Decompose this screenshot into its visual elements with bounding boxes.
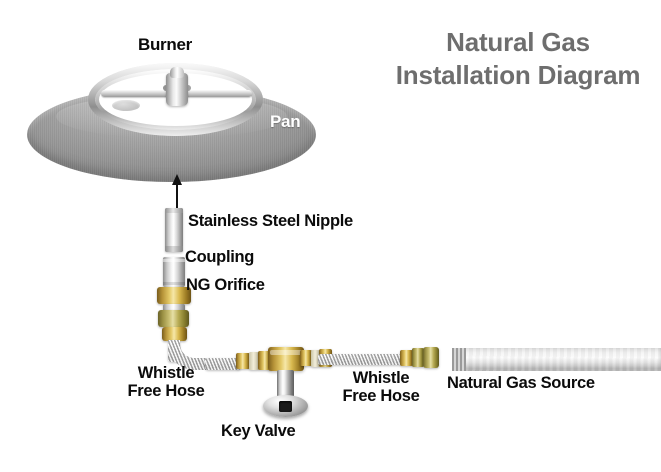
label-hose-right-line-2: Free Hose bbox=[342, 387, 419, 405]
arrow-shaft bbox=[176, 182, 178, 208]
nipple-bottom-thread bbox=[165, 246, 183, 252]
label-coupling: Coupling bbox=[185, 249, 254, 267]
key-valve-square-socket bbox=[279, 401, 292, 412]
nipple-top-thread bbox=[165, 208, 183, 213]
burner-spoke-left bbox=[101, 90, 173, 97]
label-whistle-free-hose-right: Whistle Free Hose bbox=[328, 370, 434, 406]
key-valve-body-highlight bbox=[270, 350, 302, 355]
label-natural-gas-source: Natural Gas Source bbox=[447, 375, 595, 393]
gas-pipe-thread-end bbox=[452, 348, 466, 371]
label-pan: Pan bbox=[270, 113, 300, 131]
pan-center-port bbox=[112, 100, 140, 111]
flow-arrow-up-icon bbox=[171, 174, 183, 208]
title-line-1: Natural Gas bbox=[382, 26, 654, 59]
label-key-valve: Key Valve bbox=[221, 423, 295, 441]
gas-pipe-texture bbox=[452, 348, 661, 371]
ng-orifice-hex-middle bbox=[158, 310, 189, 327]
hose-right-end-nut bbox=[423, 347, 439, 368]
natural-gas-source-pipe bbox=[452, 348, 661, 371]
coupling-rib-bottom bbox=[163, 282, 185, 285]
burner-hub-cap bbox=[170, 67, 184, 78]
label-ng-orifice: NG Orifice bbox=[186, 277, 265, 295]
page-title: Natural Gas Installation Diagram bbox=[382, 26, 654, 93]
label-burner: Burner bbox=[138, 36, 192, 54]
burner-spoke-right bbox=[181, 90, 252, 97]
label-hose-left-line-1: Whistle bbox=[138, 364, 195, 382]
coupling-rib-top bbox=[163, 259, 185, 262]
hose-left-fitting-brass bbox=[236, 353, 250, 369]
ng-orifice-hex-lower bbox=[162, 327, 187, 341]
label-hose-right-line-1: Whistle bbox=[353, 369, 410, 387]
whistle-free-hose-right bbox=[318, 354, 402, 365]
label-stainless-steel-nipple: Stainless Steel Nipple bbox=[188, 213, 353, 231]
burner-component bbox=[88, 63, 263, 136]
label-hose-left-line-2: Free Hose bbox=[127, 382, 204, 400]
natural-gas-installation-diagram: Natural Gas Installation Diagram Burner … bbox=[0, 0, 661, 472]
title-line-2: Installation Diagram bbox=[382, 59, 654, 92]
label-whistle-free-hose-left: Whistle Free Hose bbox=[111, 365, 221, 401]
